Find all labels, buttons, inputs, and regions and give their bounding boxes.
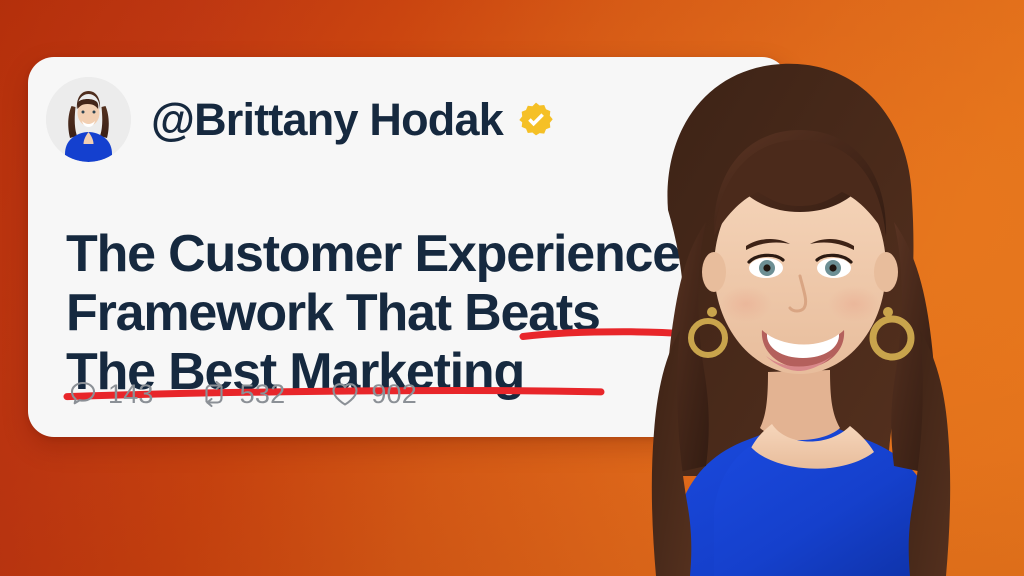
- headline-line-2: Framework That Beats: [66, 284, 600, 342]
- avatar-photo: [46, 77, 131, 162]
- stat-retweet-value: 532: [240, 381, 286, 408]
- stat-reply-value: 143: [108, 381, 154, 408]
- retweet-icon: [198, 379, 230, 409]
- stat-retweet[interactable]: 532: [198, 379, 286, 409]
- author-handle: @Brittany Hodak: [151, 97, 503, 142]
- stat-like-value: 902: [371, 381, 417, 408]
- avatar[interactable]: [46, 77, 131, 162]
- reply-icon: [68, 379, 98, 409]
- tweet-header: @Brittany Hodak: [46, 77, 555, 162]
- verified-badge-icon: [517, 101, 555, 139]
- presenter-photo: [610, 0, 1024, 576]
- like-icon: [329, 379, 361, 409]
- author-identity: @Brittany Hodak: [151, 97, 555, 142]
- stat-like[interactable]: 902: [329, 379, 417, 409]
- tweet-stats: 143 532 902: [68, 379, 417, 409]
- promo-graphic: @Brittany Hodak The Customer Experience …: [0, 0, 1024, 576]
- stat-reply[interactable]: 143: [68, 379, 154, 409]
- presenter-cutout: [610, 0, 1024, 576]
